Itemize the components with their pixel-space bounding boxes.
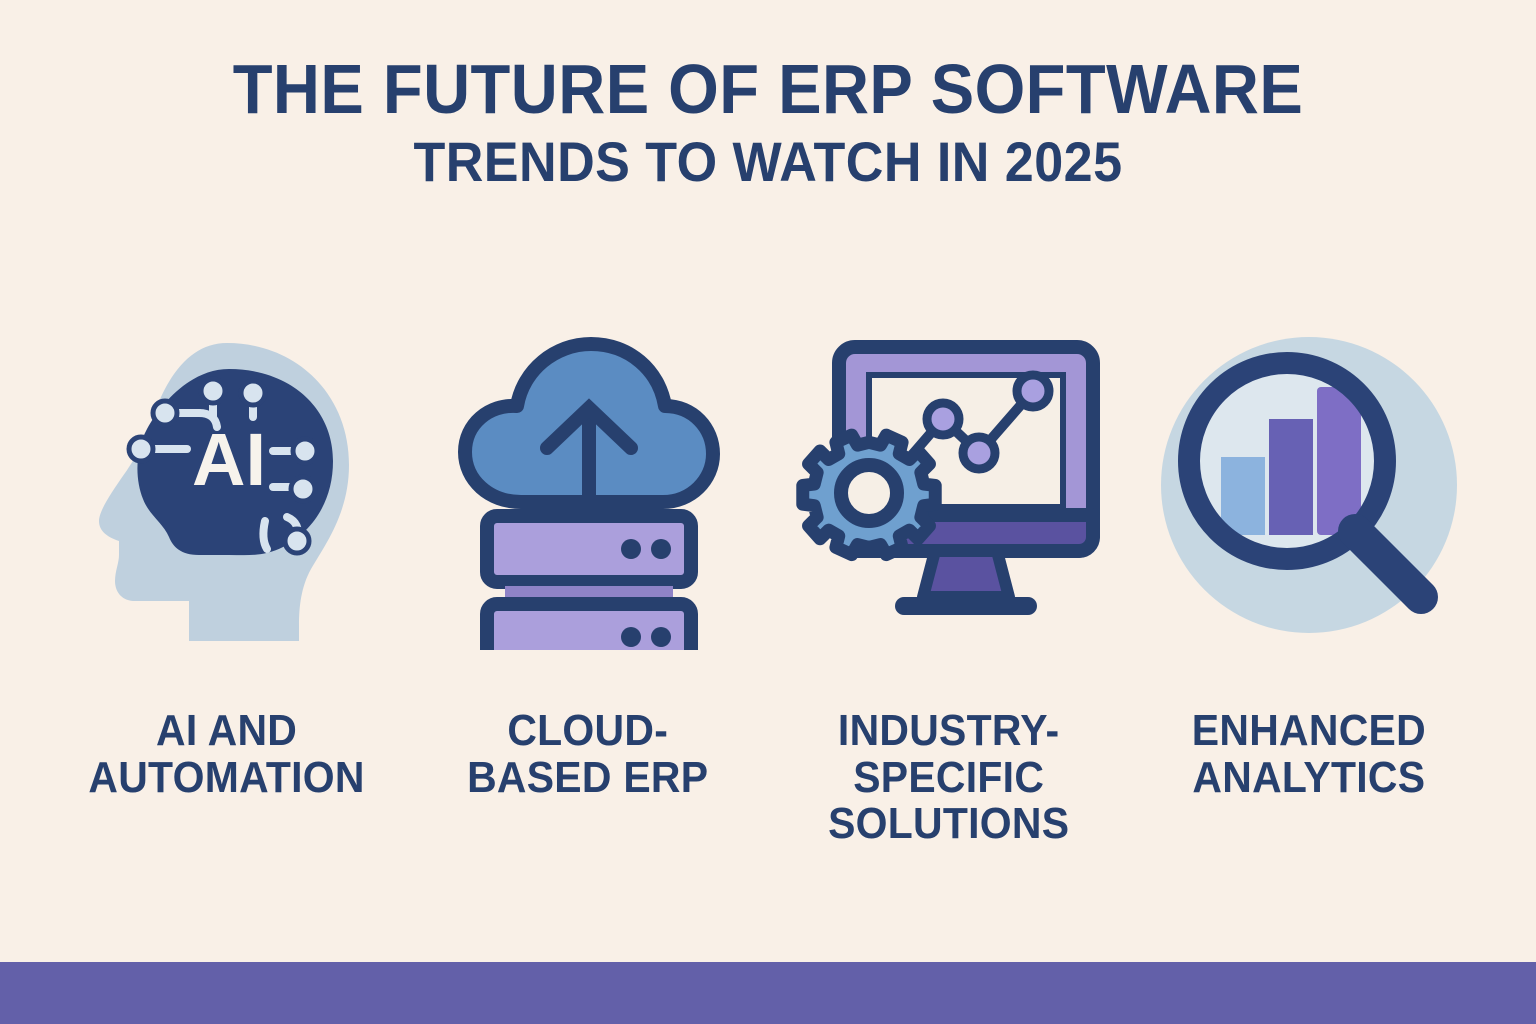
ai-label-text: AI: [192, 418, 266, 501]
label-line: AI AND: [89, 708, 365, 755]
trend-card-cloud-erp: CLOUD- BASED ERP: [423, 320, 753, 848]
trend-card-label-industry: INDUSTRY- SPECIFIC SOLUTIONS: [828, 708, 1069, 848]
footer-accent-bar: [0, 962, 1536, 1024]
icon-container-ai: AI: [77, 320, 377, 650]
icon-container-monitor: [783, 320, 1113, 650]
page-title-line1: THE FUTURE OF ERP SOFTWARE: [54, 54, 1482, 125]
label-line: ENHANCED: [1192, 708, 1426, 755]
monitor-gear-chart-icon: [783, 325, 1113, 645]
header: THE FUTURE OF ERP SOFTWARE TRENDS TO WAT…: [0, 0, 1536, 194]
label-line: SPECIFIC: [828, 755, 1069, 802]
label-line: BASED ERP: [467, 755, 708, 802]
icon-container-cloud: [443, 320, 733, 650]
label-line: AUTOMATION: [89, 755, 365, 802]
label-line: INDUSTRY-: [828, 708, 1069, 755]
ai-brain-head-icon: AI: [77, 325, 377, 645]
trend-card-label-analytics: ENHANCED ANALYTICS: [1192, 708, 1426, 801]
trend-card-ai-automation: AI: [62, 320, 392, 848]
page-subtitle-line2: TRENDS TO WATCH IN 2025: [54, 131, 1482, 194]
trend-card-industry-solutions: INDUSTRY- SPECIFIC SOLUTIONS: [783, 320, 1113, 848]
trend-card-enhanced-analytics: ENHANCED ANALYTICS: [1144, 320, 1474, 848]
magnifier-bar-chart-icon: [1159, 335, 1459, 635]
label-line: CLOUD-: [467, 708, 708, 755]
trend-card-label-cloud: CLOUD- BASED ERP: [467, 708, 708, 801]
trend-cards-row: AI: [0, 320, 1536, 848]
trend-card-label-ai: AI AND AUTOMATION: [89, 708, 365, 801]
label-line: SOLUTIONS: [828, 801, 1069, 848]
cloud-server-upload-icon: [443, 320, 733, 650]
icon-container-analytics: [1159, 320, 1459, 650]
label-line: ANALYTICS: [1192, 755, 1426, 802]
